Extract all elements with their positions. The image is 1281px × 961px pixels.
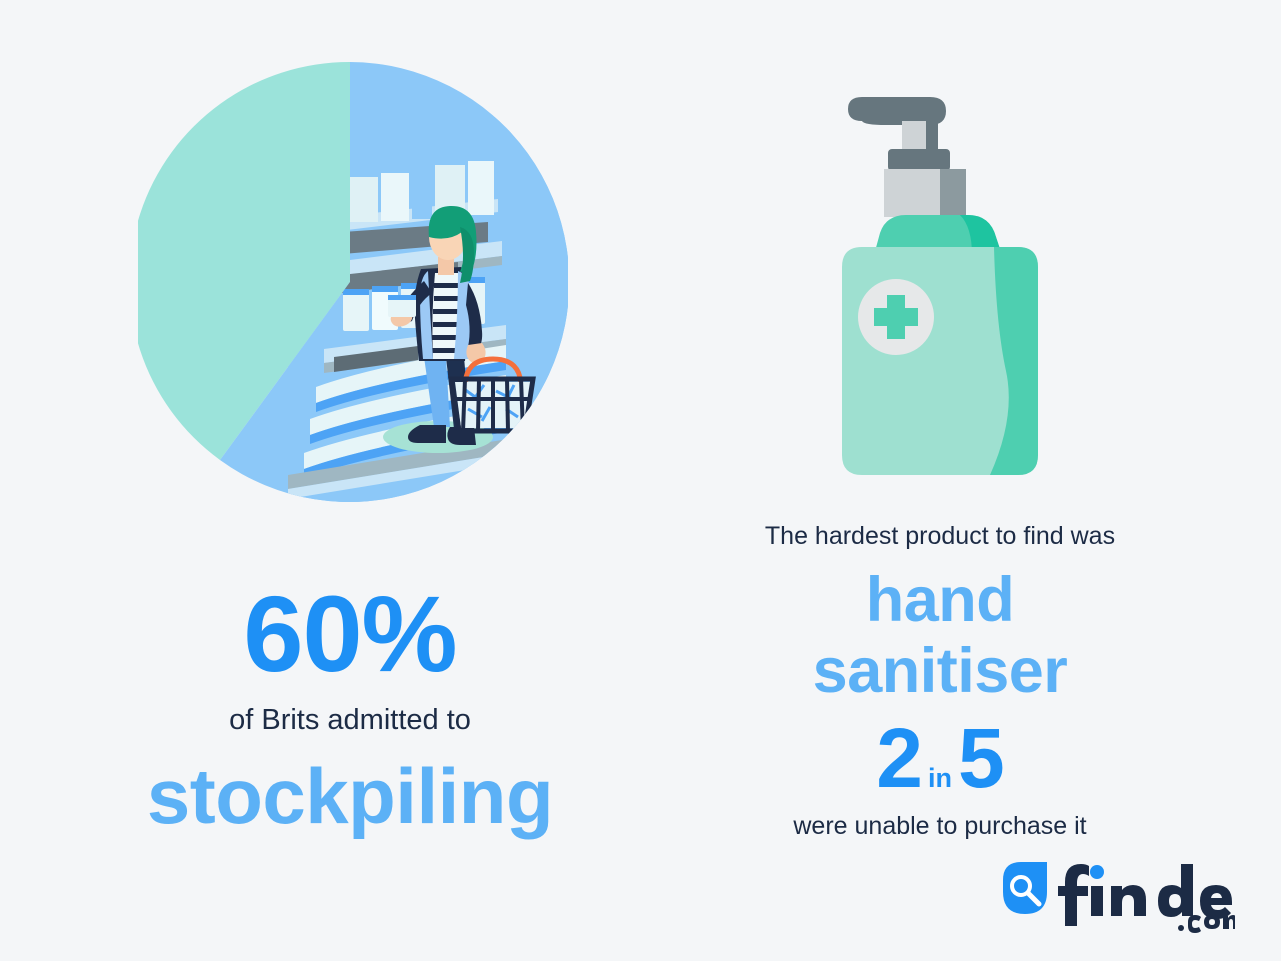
left-stat-block: 60% of Brits admitted to stockpiling — [60, 580, 640, 835]
stockpiling-caption: of Brits admitted to — [60, 706, 640, 735]
stockpiling-pie-chart — [138, 57, 568, 507]
ratio-stat: 2in5 — [700, 716, 1180, 800]
hardest-product-lead: The hardest product to find was — [700, 524, 1180, 549]
ratio-footnote: were unable to purchase it — [700, 814, 1180, 839]
finder-logo[interactable] — [995, 858, 1235, 934]
stockpiling-percent: 60% — [60, 580, 640, 688]
product-name: hand sanitiser — [700, 565, 1180, 706]
bottle-neck — [884, 169, 940, 217]
ratio-denominator: 5 — [958, 711, 1004, 805]
finder-i-dot — [1090, 865, 1104, 879]
search-droplet-icon — [1003, 862, 1047, 914]
ratio-word: in — [922, 763, 958, 793]
pump-nozzle — [848, 97, 946, 125]
hand-sanitiser-illustration — [830, 95, 1050, 495]
finder-wordmark — [1058, 864, 1232, 926]
product-name-line-1: hand — [700, 565, 1180, 636]
finder-tld — [1178, 915, 1235, 933]
product-name-line-2: sanitiser — [700, 636, 1180, 707]
ratio-numerator: 2 — [876, 711, 922, 805]
pump-collar — [888, 149, 950, 171]
stockpiling-highlight: stockpiling — [60, 757, 640, 835]
right-stat-block: The hardest product to find was hand san… — [700, 524, 1180, 839]
infographic-canvas: 60% of Brits admitted to stockpiling — [0, 0, 1281, 961]
